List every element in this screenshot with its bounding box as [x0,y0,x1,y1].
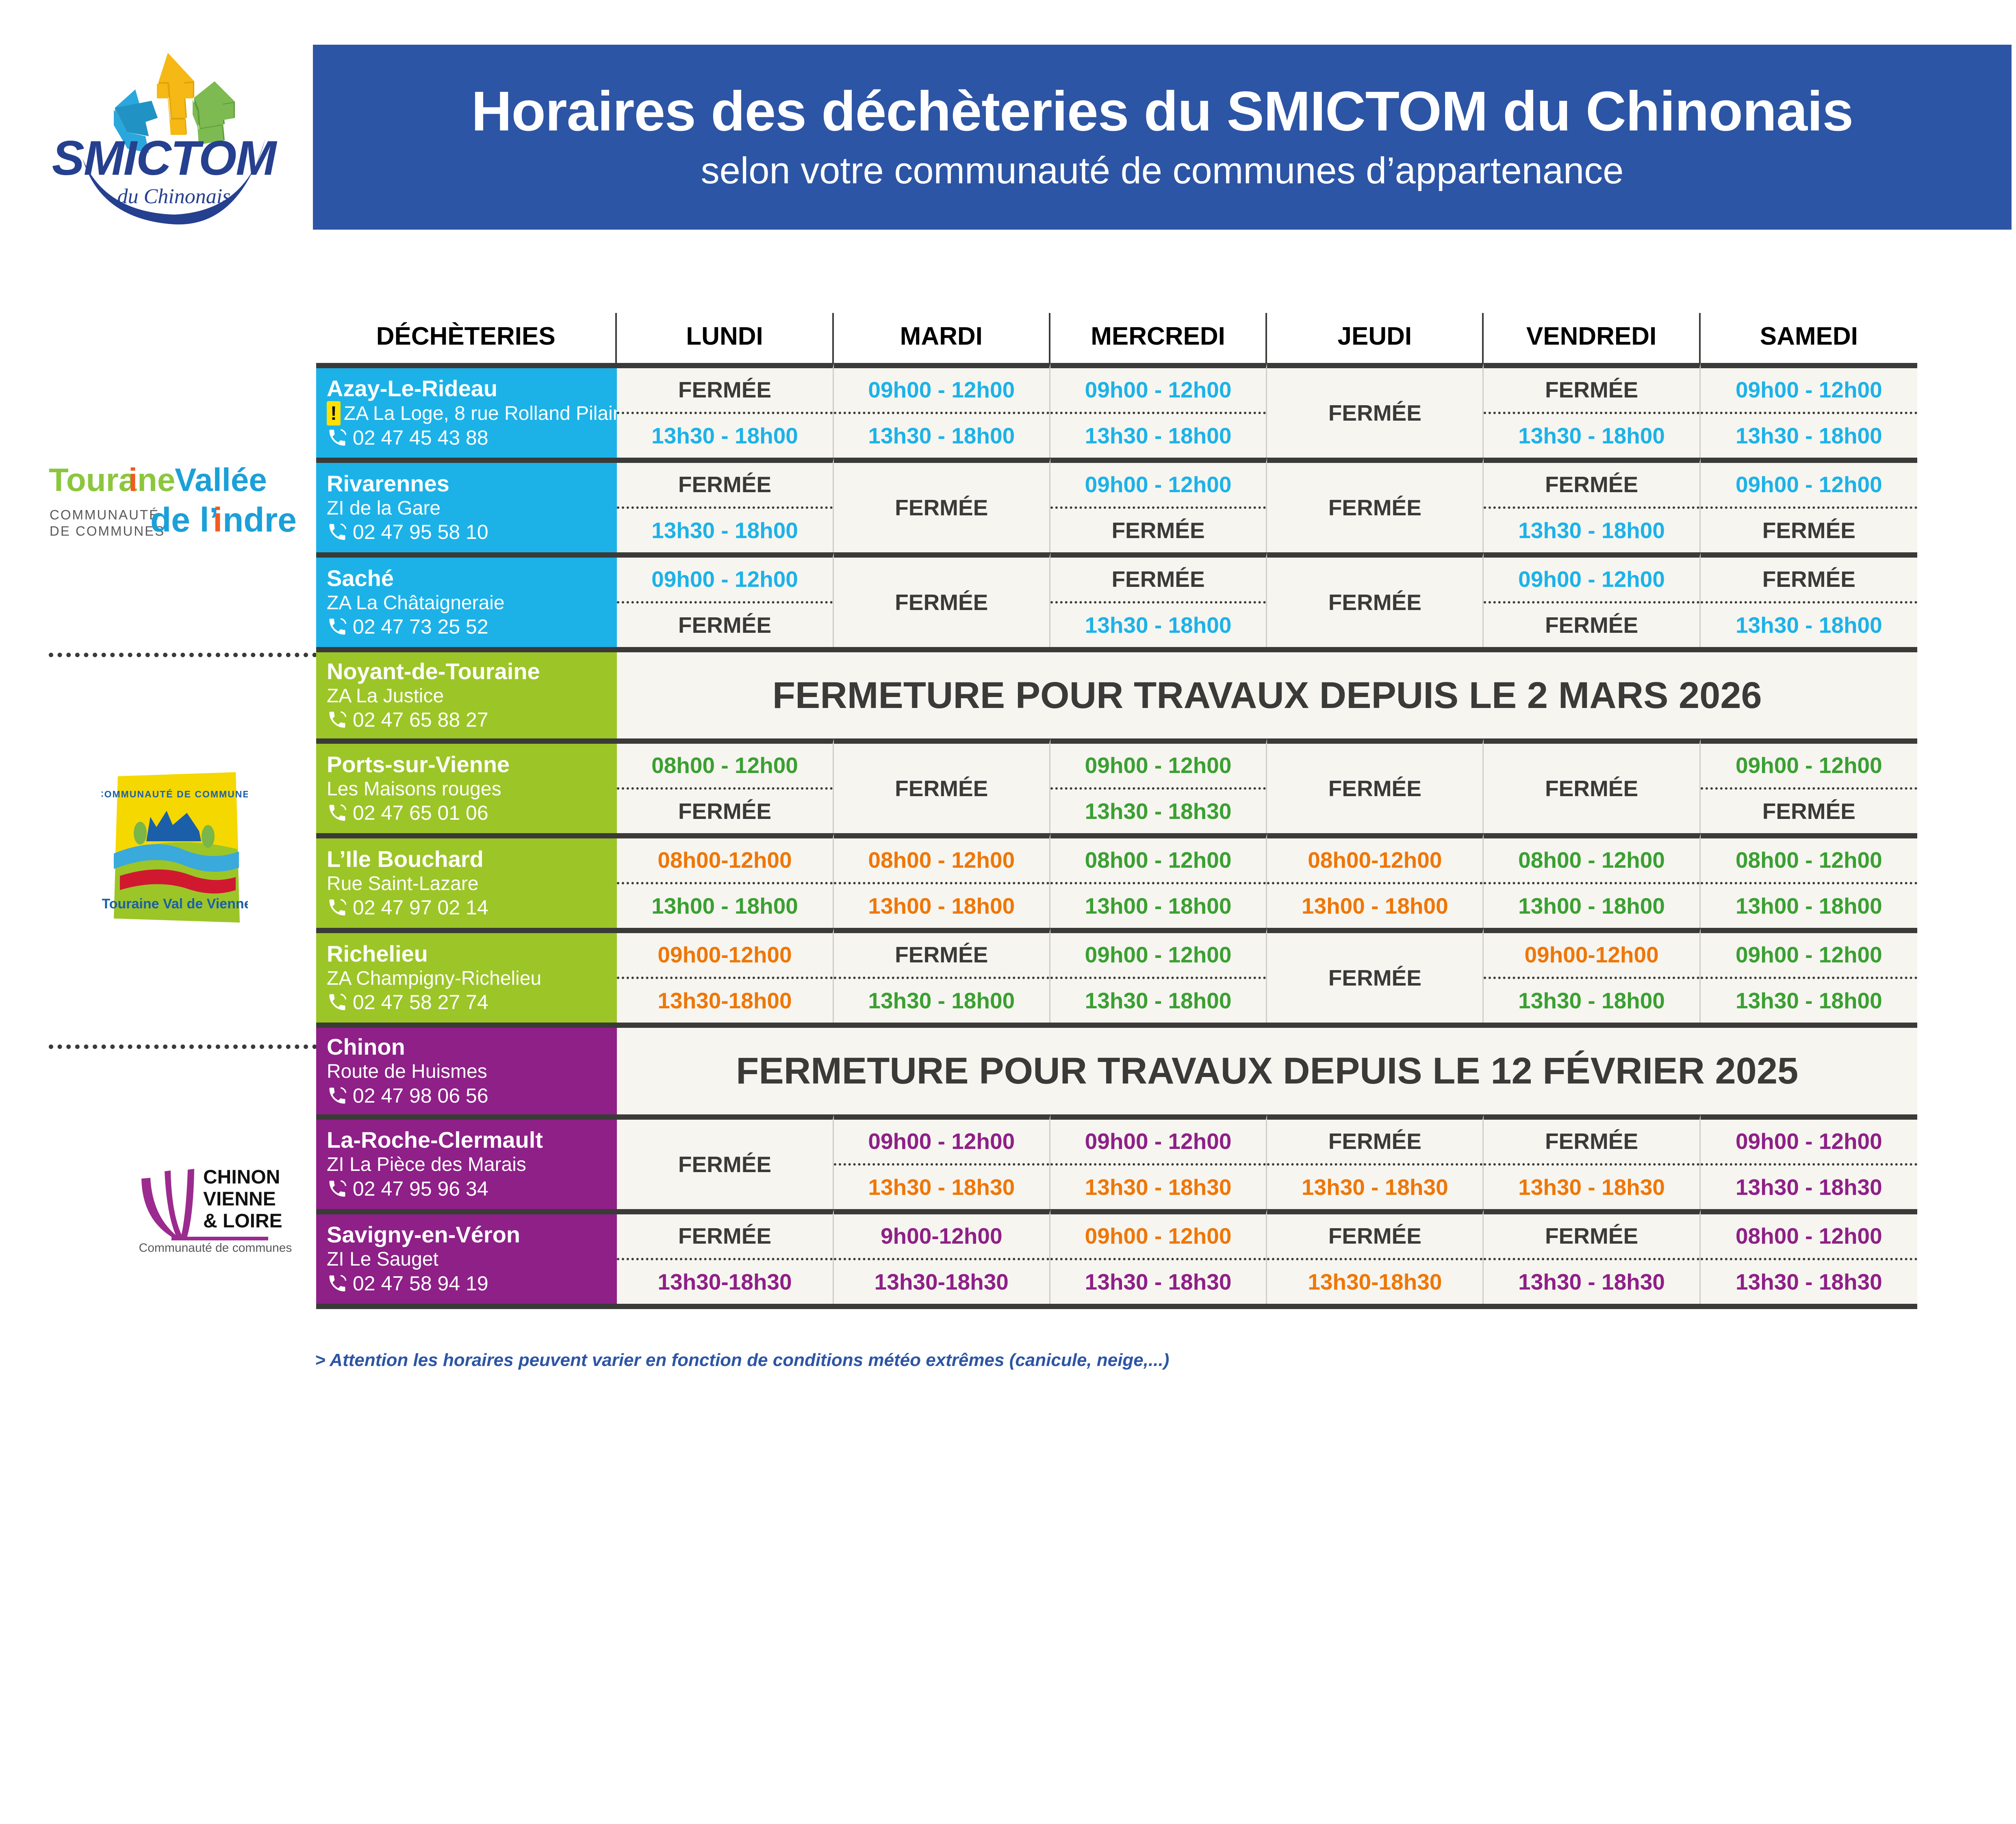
schedule-morning: 09h00 - 12h00 [1050,1214,1266,1258]
schedule-afternoon: 13h00 - 18h00 [617,882,832,928]
svg-text:VIENNE: VIENNE [203,1188,276,1210]
svg-text:Touraine Val de Vienne: Touraine Val de Vienne [102,896,248,912]
schedule-morning: 09h00 - 12h00 [1701,933,1917,977]
column-header-jeudi: JEUDI [1267,313,1484,363]
schedule-value: FERMÉE [617,1126,832,1203]
address-text: ZI de la Gare [327,497,441,520]
phone-number: 02 47 73 25 52 [353,615,488,639]
table-row: Savigny-en-VéronZI Le Sauget 02 47 58 94… [316,1209,1917,1304]
schedule-afternoon: 13h30 - 18h00 [1050,977,1266,1023]
schedule-value: FERMÉE [834,564,1049,641]
table-row: L’Ile BouchardRue Saint-Lazare 02 47 97 … [316,833,1917,928]
page-subtitle: selon votre communauté de communes d’app… [701,150,1624,192]
schedule-cell: FERMÉE [1267,458,1484,552]
schedule-morning: 08h00 - 12h00 [834,838,1049,882]
schedule-morning: FERMÉE [1267,1120,1482,1163]
schedule-morning: 09h00 - 12h00 [1050,368,1266,412]
schedule-cell: FERMÉE13h30-18h30 [1267,1209,1484,1304]
phone-icon [327,521,348,543]
address-text: ZA La Justice [327,684,444,708]
svg-text:de l’: de l’ [150,501,219,539]
dechetterie-cell[interactable]: RivarennesZI de la Gare 02 47 95 58 10 [316,458,617,552]
footer-note: > Attention les horaires peuvent varier … [315,1350,1169,1370]
address-text: Rue Saint-Lazare [327,872,479,896]
page-title: Horaires des déchèteries du SMICTOM du C… [471,82,1853,141]
column-header-mercredi: MERCREDI [1050,313,1267,363]
dechetterie-phone[interactable]: 02 47 73 25 52 [327,615,617,639]
schedule-morning: 09h00 - 12h00 [834,368,1049,412]
address-text: ZA La Loge, 8 rue Rolland Pilain [344,402,623,426]
schedule-afternoon: 13h30 - 18h00 [1484,506,1699,552]
table-row: SachéZA La Châtaigneraie 02 47 73 25 520… [316,552,1917,647]
schedule-morning: 09h00-12h00 [617,933,832,977]
schedule-morning: 09h00 - 12h00 [1701,368,1917,412]
schedule-morning: FERMÉE [1484,1120,1699,1163]
dechetterie-phone[interactable]: 02 47 58 27 74 [327,990,617,1014]
dechetterie-cell[interactable]: ChinonRoute de Huismes 02 47 98 06 56 [316,1023,617,1114]
dechetterie-cell[interactable]: Savigny-en-VéronZI Le Sauget 02 47 58 94… [316,1209,617,1304]
phone-number: 02 47 95 96 34 [353,1177,488,1201]
schedule-afternoon: 13h30 - 18h30 [1267,1163,1482,1209]
schedule-afternoon: 13h30 - 18h00 [834,412,1049,458]
logo-chinon-vienne-loire: CHINON VIENNE & LOIRE Communauté de comm… [134,1154,297,1256]
svg-text:& LOIRE: & LOIRE [203,1210,282,1232]
schedule-cell: 09h00 - 12h0013h30 - 18h00 [1050,928,1267,1023]
phone-icon [327,1085,348,1106]
schedule-afternoon: 13h30 - 18h00 [617,412,832,458]
dechetterie-address: Les Maisons rouges [327,777,617,801]
phone-number: 02 47 97 02 14 [353,895,488,920]
phone-icon [327,427,348,448]
schedule-value: FERMÉE [1267,940,1482,1016]
dechetterie-phone[interactable]: 02 47 58 94 19 [327,1271,617,1296]
schedule-value: FERMÉE [834,750,1049,827]
schedule-cell: 09h00 - 12h00FERMÉE [1701,738,1917,833]
schedule-morning: FERMÉE [1267,1214,1482,1258]
schedule-cell: 08h00 - 12h0013h00 - 18h00 [1050,833,1267,928]
schedule-value: FERMÉE [1267,750,1482,827]
schedule-morning: 09h00 - 12h00 [1484,558,1699,601]
schedule-morning: 09h00 - 12h00 [617,558,832,601]
schedule-afternoon: 13h00 - 18h00 [1050,882,1266,928]
schedule-cell: 08h00 - 12h00FERMÉE [617,738,833,833]
schedule-cell: FERMÉE13h30 - 18h00 [1484,363,1700,458]
schedule-afternoon: 13h30 - 18h00 [834,977,1049,1023]
table-row: La-Roche-ClermaultZI La Pièce des Marais… [316,1114,1917,1209]
table-bottom-border [316,1304,1917,1309]
schedule-afternoon: 13h30 - 18h30 [1050,1163,1266,1209]
schedule-cell: FERMÉE13h30 - 18h00 [1484,458,1700,552]
schedule-afternoon: 13h30-18h30 [1267,1258,1482,1304]
schedule-morning: 09h00 - 12h00 [1701,744,1917,787]
schedule-afternoon: 13h30-18h30 [617,1258,832,1304]
schedule-cell: 08h00 - 12h0013h00 - 18h00 [834,833,1050,928]
schedule-cell: FERMÉE [1267,552,1484,647]
schedule-afternoon: 13h30 - 18h30 [1050,1258,1266,1304]
schedule-cell: 09h00 - 12h0013h30 - 18h30 [834,1114,1050,1209]
logo-touraine-val-de-vienne: Touraine Val de Vienne COMMUNAUTÉ DE COM… [102,772,248,927]
dechetterie-phone[interactable]: 02 47 98 06 56 [327,1084,617,1108]
schedule-morning: 9h00-12h00 [834,1214,1049,1258]
schedule-morning: 09h00 - 12h00 [1050,744,1266,787]
smictom-logo: SMICTOM du Chinonais [44,37,288,228]
dechetterie-phone[interactable]: 02 47 65 01 06 [327,801,617,825]
phone-icon [327,992,348,1013]
schedule-cell: FERMÉE13h30 - 18h00 [1050,552,1267,647]
schedule-cell: 09h00 - 12h00FERMÉE [617,552,833,647]
schedule-afternoon: 13h30 - 18h30 [834,1163,1049,1209]
schedule-morning: 09h00 - 12h00 [1701,1120,1917,1163]
closure-notice: FERMETURE POUR TRAVAUX DEPUIS LE 12 FÉVR… [617,1023,1917,1114]
group-divider-2 [49,1044,317,1049]
svg-text:ndre: ndre [223,501,297,539]
table-row: Ports-sur-VienneLes Maisons rouges 02 47… [316,738,1917,833]
dechetterie-name: Richelieu [327,941,617,967]
schedule-afternoon: 13h00 - 18h00 [1701,882,1917,928]
schedule-morning: 08h00 - 12h00 [617,744,832,787]
schedule-cell: 09h00 - 12h0013h30 - 18h00 [1050,363,1267,458]
schedule-cell: 09h00 - 12h00FERMÉE [1050,458,1267,552]
svg-text:Vallée: Vallée [175,462,267,498]
dechetterie-cell[interactable]: Azay-Le-Rideau!ZA La Loge, 8 rue Rolland… [316,363,617,458]
dechetterie-phone[interactable]: 02 47 45 43 88 [327,426,617,450]
schedule-cell: 09h00 - 12h0013h30 - 18h00 [834,363,1050,458]
dechetterie-name: Saché [327,566,617,591]
schedule-cell: 09h00 - 12h00FERMÉE [1484,552,1700,647]
address-text: Les Maisons rouges [327,777,501,801]
schedule-afternoon: 13h30 - 18h30 [1484,1163,1699,1209]
dechetterie-address: ZA La Châtaigneraie [327,591,617,615]
dechetterie-address: Route de Huismes [327,1060,617,1084]
phone-number: 02 47 65 01 06 [353,801,488,825]
schedule-value: FERMÉE [1267,375,1482,451]
dechetterie-name: Noyant-de-Touraine [327,659,617,684]
schedule-afternoon: FERMÉE [1701,506,1917,552]
address-text: ZI La Pièce des Marais [327,1153,526,1177]
schedule-cell: 08h00-12h0013h00 - 18h00 [1267,833,1484,928]
phone-icon [327,897,348,918]
schedule-afternoon: FERMÉE [1484,601,1699,647]
column-header-samedi: SAMEDI [1701,313,1917,363]
svg-text:CHINON: CHINON [203,1166,280,1188]
schedule-morning: 08h00 - 12h00 [1701,838,1917,882]
dechetterie-name: Savigny-en-Véron [327,1222,617,1248]
address-text: Route de Huismes [327,1060,487,1084]
schedule-cell: 08h00-12h0013h00 - 18h00 [617,833,833,928]
dechetterie-phone[interactable]: 02 47 95 96 34 [327,1177,617,1201]
schedule-afternoon: 13h30 - 18h00 [1484,977,1699,1023]
dechetterie-cell[interactable]: Ports-sur-VienneLes Maisons rouges 02 47… [316,738,617,833]
bottom-border-cell [316,1304,1917,1309]
schedule-afternoon: 13h30 - 18h30 [1701,1163,1917,1209]
schedule-morning: 09h00 - 12h00 [1050,933,1266,977]
schedule-cell: FERMÉE [1267,363,1484,458]
schedule-cell: 08h00 - 12h0013h00 - 18h00 [1701,833,1917,928]
table-row: RichelieuZA Champigny-Richelieu 02 47 58… [316,928,1917,1023]
column-header-mardi: MARDI [834,313,1050,363]
column-header-vendredi: VENDREDI [1484,313,1700,363]
schedule-morning: 08h00 - 12h00 [1701,1214,1917,1258]
schedule-cell: FERMÉE [1267,928,1484,1023]
schedule-afternoon: 13h30 - 18h00 [1484,412,1699,458]
schedule-cell: 09h00 - 12h0013h30 - 18h30 [1050,1114,1267,1209]
schedule-cell: 08h00 - 12h0013h00 - 18h00 [1484,833,1700,928]
phone-icon [327,616,348,637]
schedule-morning: 08h00 - 12h00 [1484,838,1699,882]
dechetterie-cell[interactable]: RichelieuZA Champigny-Richelieu 02 47 58… [316,928,617,1023]
schedule-cell: FERMÉE [834,552,1050,647]
page-header: SMICTOM du Chinonais Horaires des déchèt… [0,0,2016,244]
schedule-morning: FERMÉE [1484,1214,1699,1258]
schedule-cell: FERMÉE13h30 - 18h30 [1484,1209,1700,1304]
address-text: ZI Le Sauget [327,1248,438,1271]
phone-number: 02 47 58 94 19 [353,1271,488,1296]
warning-icon: ! [327,401,341,426]
schedule-morning: FERMÉE [617,463,832,506]
schedule-morning: FERMÉE [1050,558,1266,601]
schedule-morning: 09h00 - 12h00 [834,1120,1049,1163]
schedule-afternoon: 13h30 - 18h30 [1484,1258,1699,1304]
title-banner: Horaires des déchèteries du SMICTOM du C… [313,45,2012,230]
schedule-cell: 09h00-12h0013h30 - 18h00 [1484,928,1700,1023]
schedule-afternoon: 13h30 - 18h00 [1701,412,1917,458]
dechetterie-cell[interactable]: Noyant-de-TouraineZA La Justice 02 47 65… [316,647,617,738]
schedule-morning: 08h00 - 12h00 [1050,838,1266,882]
dechetterie-address: ZA Champigny-Richelieu [327,967,617,990]
schedule-value: FERMÉE [834,469,1049,546]
svg-text:Communauté de communes: Communauté de communes [139,1241,292,1255]
phone-number: 02 47 95 58 10 [353,520,488,544]
schedule-morning: FERMÉE [1484,463,1699,506]
schedule-cell: 09h00 - 12h0013h30 - 18h30 [1050,1209,1267,1304]
schedule-cell: 9h00-12h0013h30-18h30 [834,1209,1050,1304]
schedule-cell: FERMÉE [834,738,1050,833]
closure-notice: FERMETURE POUR TRAVAUX DEPUIS LE 2 MARS … [617,647,1917,738]
dechetterie-address: ZA La Justice [327,684,617,708]
group-divider-1 [49,653,317,657]
schedule-afternoon: 13h00 - 18h00 [834,882,1049,928]
schedule-cell: 09h00 - 12h0013h30 - 18h30 [1701,1114,1917,1209]
schedule-afternoon: 13h30 - 18h00 [1701,601,1917,647]
phone-number: 02 47 98 06 56 [353,1084,488,1108]
svg-text:Toura: Toura [49,462,137,498]
address-text: ZA Champigny-Richelieu [327,967,541,990]
dechetterie-name: Ports-sur-Vienne [327,752,617,777]
schedule-cell: FERMÉE [1267,738,1484,833]
schedule-morning: 08h00-12h00 [617,838,832,882]
dechetterie-name: La-Roche-Clermault [327,1127,617,1153]
schedule-afternoon: FERMÉE [1701,787,1917,833]
schedule-cell: FERMÉE13h30 - 18h00 [617,363,833,458]
schedule-afternoon: 13h30-18h00 [617,977,832,1023]
schedule-cell: FERMÉE13h30 - 18h00 [1701,552,1917,647]
schedule-cell: 09h00-12h0013h30-18h00 [617,928,833,1023]
phone-number: 02 47 65 88 27 [353,708,488,732]
schedule-cell: 09h00 - 12h00FERMÉE [1701,458,1917,552]
table-header: DÉCHÈTERIESLUNDIMARDIMERCREDIJEUDIVENDRE… [316,313,1917,363]
column-header-lundi: LUNDI [617,313,833,363]
schedule-cell: FERMÉE13h30 - 18h00 [617,458,833,552]
dechetterie-cell[interactable]: SachéZA La Châtaigneraie 02 47 73 25 52 [316,552,617,647]
dechetterie-address: ZI de la Gare [327,497,617,520]
dechetterie-phone[interactable]: 02 47 97 02 14 [327,895,617,920]
dechetterie-address: Rue Saint-Lazare [327,872,617,896]
svg-text:i: i [213,501,222,539]
svg-text:COMMUNAUTÉ DE COMMUNES: COMMUNAUTÉ DE COMMUNES [102,788,248,799]
phone-icon [327,1273,348,1294]
dechetterie-address: !ZA La Loge, 8 rue Rolland Pilain [327,401,617,426]
schedule-cell: 09h00 - 12h0013h30 - 18h00 [1701,928,1917,1023]
logo-touraine-vallee-indre: Toura i ne Vallée COMMUNAUTÉ DE COMMUNES… [49,459,317,553]
schedule-value: FERMÉE [1267,564,1482,641]
table-row: Azay-Le-Rideau!ZA La Loge, 8 rue Rolland… [316,363,1917,458]
dechetterie-cell[interactable]: L’Ile BouchardRue Saint-Lazare 02 47 97 … [316,833,617,928]
phone-icon [327,709,348,730]
svg-text:COMMUNAUTÉ: COMMUNAUTÉ [50,507,159,522]
schedule-afternoon: 13h30 - 18h00 [1050,412,1266,458]
schedule-cell: FERMÉE13h30 - 18h00 [834,928,1050,1023]
schedule-afternoon: 13h30 - 18h00 [617,506,832,552]
schedule-afternoon: FERMÉE [617,787,832,833]
schedule-afternoon: 13h30 - 18h00 [1050,601,1266,647]
table-row: ChinonRoute de Huismes 02 47 98 06 56FER… [316,1023,1917,1114]
schedule-cell: FERMÉE13h30 - 18h30 [1484,1114,1700,1209]
phone-icon [327,802,348,823]
schedule-cell: 09h00 - 12h0013h30 - 18h00 [1701,363,1917,458]
phone-icon [327,1178,348,1199]
schedule-cell: FERMÉE [617,1114,833,1209]
svg-text:SMICTOM: SMICTOM [52,131,278,185]
dechetterie-address: ZI La Pièce des Marais [327,1153,617,1177]
schedule-morning: FERMÉE [834,933,1049,977]
dechetterie-phone[interactable]: 02 47 65 88 27 [327,708,617,732]
schedule-value: FERMÉE [1267,469,1482,546]
schedule-afternoon: FERMÉE [617,601,832,647]
schedule-cell: FERMÉE13h30-18h30 [617,1209,833,1304]
dechetterie-cell[interactable]: La-Roche-ClermaultZI La Pièce des Marais… [316,1114,617,1209]
schedule-afternoon: 13h30 - 18h30 [1701,1258,1917,1304]
schedule-cell: FERMÉE [1484,738,1700,833]
svg-text:du Chinonais: du Chinonais [117,185,231,208]
dechetterie-phone[interactable]: 02 47 95 58 10 [327,520,617,544]
schedule-afternoon: 13h30 - 18h00 [1701,977,1917,1023]
schedule-morning: FERMÉE [617,368,832,412]
dechetterie-name: L’Ile Bouchard [327,847,617,872]
address-text: ZA La Châtaigneraie [327,591,505,615]
schedule-morning: 09h00-12h00 [1484,933,1699,977]
schedule-morning: FERMÉE [617,1214,832,1258]
table-row: Noyant-de-TouraineZA La Justice 02 47 65… [316,647,1917,738]
phone-number: 02 47 58 27 74 [353,990,488,1014]
schedule-afternoon: 13h30 - 18h30 [1050,787,1266,833]
dechetterie-name: Azay-Le-Rideau [327,376,617,402]
column-header-dchteries: DÉCHÈTERIES [316,313,617,363]
dechetterie-name: Chinon [327,1034,617,1060]
table-row: RivarennesZI de la Gare 02 47 95 58 10FE… [316,458,1917,552]
schedule-afternoon: 13h30-18h30 [834,1258,1049,1304]
dechetterie-name: Rivarennes [327,471,617,497]
schedule-morning: FERMÉE [1484,368,1699,412]
schedule-cell: 08h00 - 12h0013h30 - 18h30 [1701,1209,1917,1304]
schedule-table: DÉCHÈTERIESLUNDIMARDIMERCREDIJEUDIVENDRE… [316,313,1917,1309]
schedule-morning: FERMÉE [1701,558,1917,601]
svg-text:ne: ne [137,462,175,498]
schedule-cell: FERMÉE [834,458,1050,552]
schedule-afternoon: 13h00 - 18h00 [1267,882,1482,928]
schedule-morning: 08h00-12h00 [1267,838,1482,882]
schedule-morning: 09h00 - 12h00 [1050,1120,1266,1163]
schedule-cell: FERMÉE13h30 - 18h30 [1267,1114,1484,1209]
schedule-afternoon: 13h00 - 18h00 [1484,882,1699,928]
svg-text:i: i [128,462,137,498]
phone-number: 02 47 45 43 88 [353,426,488,450]
svg-text:DE COMMUNES: DE COMMUNES [50,523,165,539]
schedule-morning: 09h00 - 12h00 [1701,463,1917,506]
schedule-cell: 09h00 - 12h0013h30 - 18h30 [1050,738,1267,833]
schedule-morning: 09h00 - 12h00 [1050,463,1266,506]
schedule-value: FERMÉE [1484,750,1699,827]
dechetterie-address: ZI Le Sauget [327,1248,617,1271]
schedule-afternoon: FERMÉE [1050,506,1266,552]
